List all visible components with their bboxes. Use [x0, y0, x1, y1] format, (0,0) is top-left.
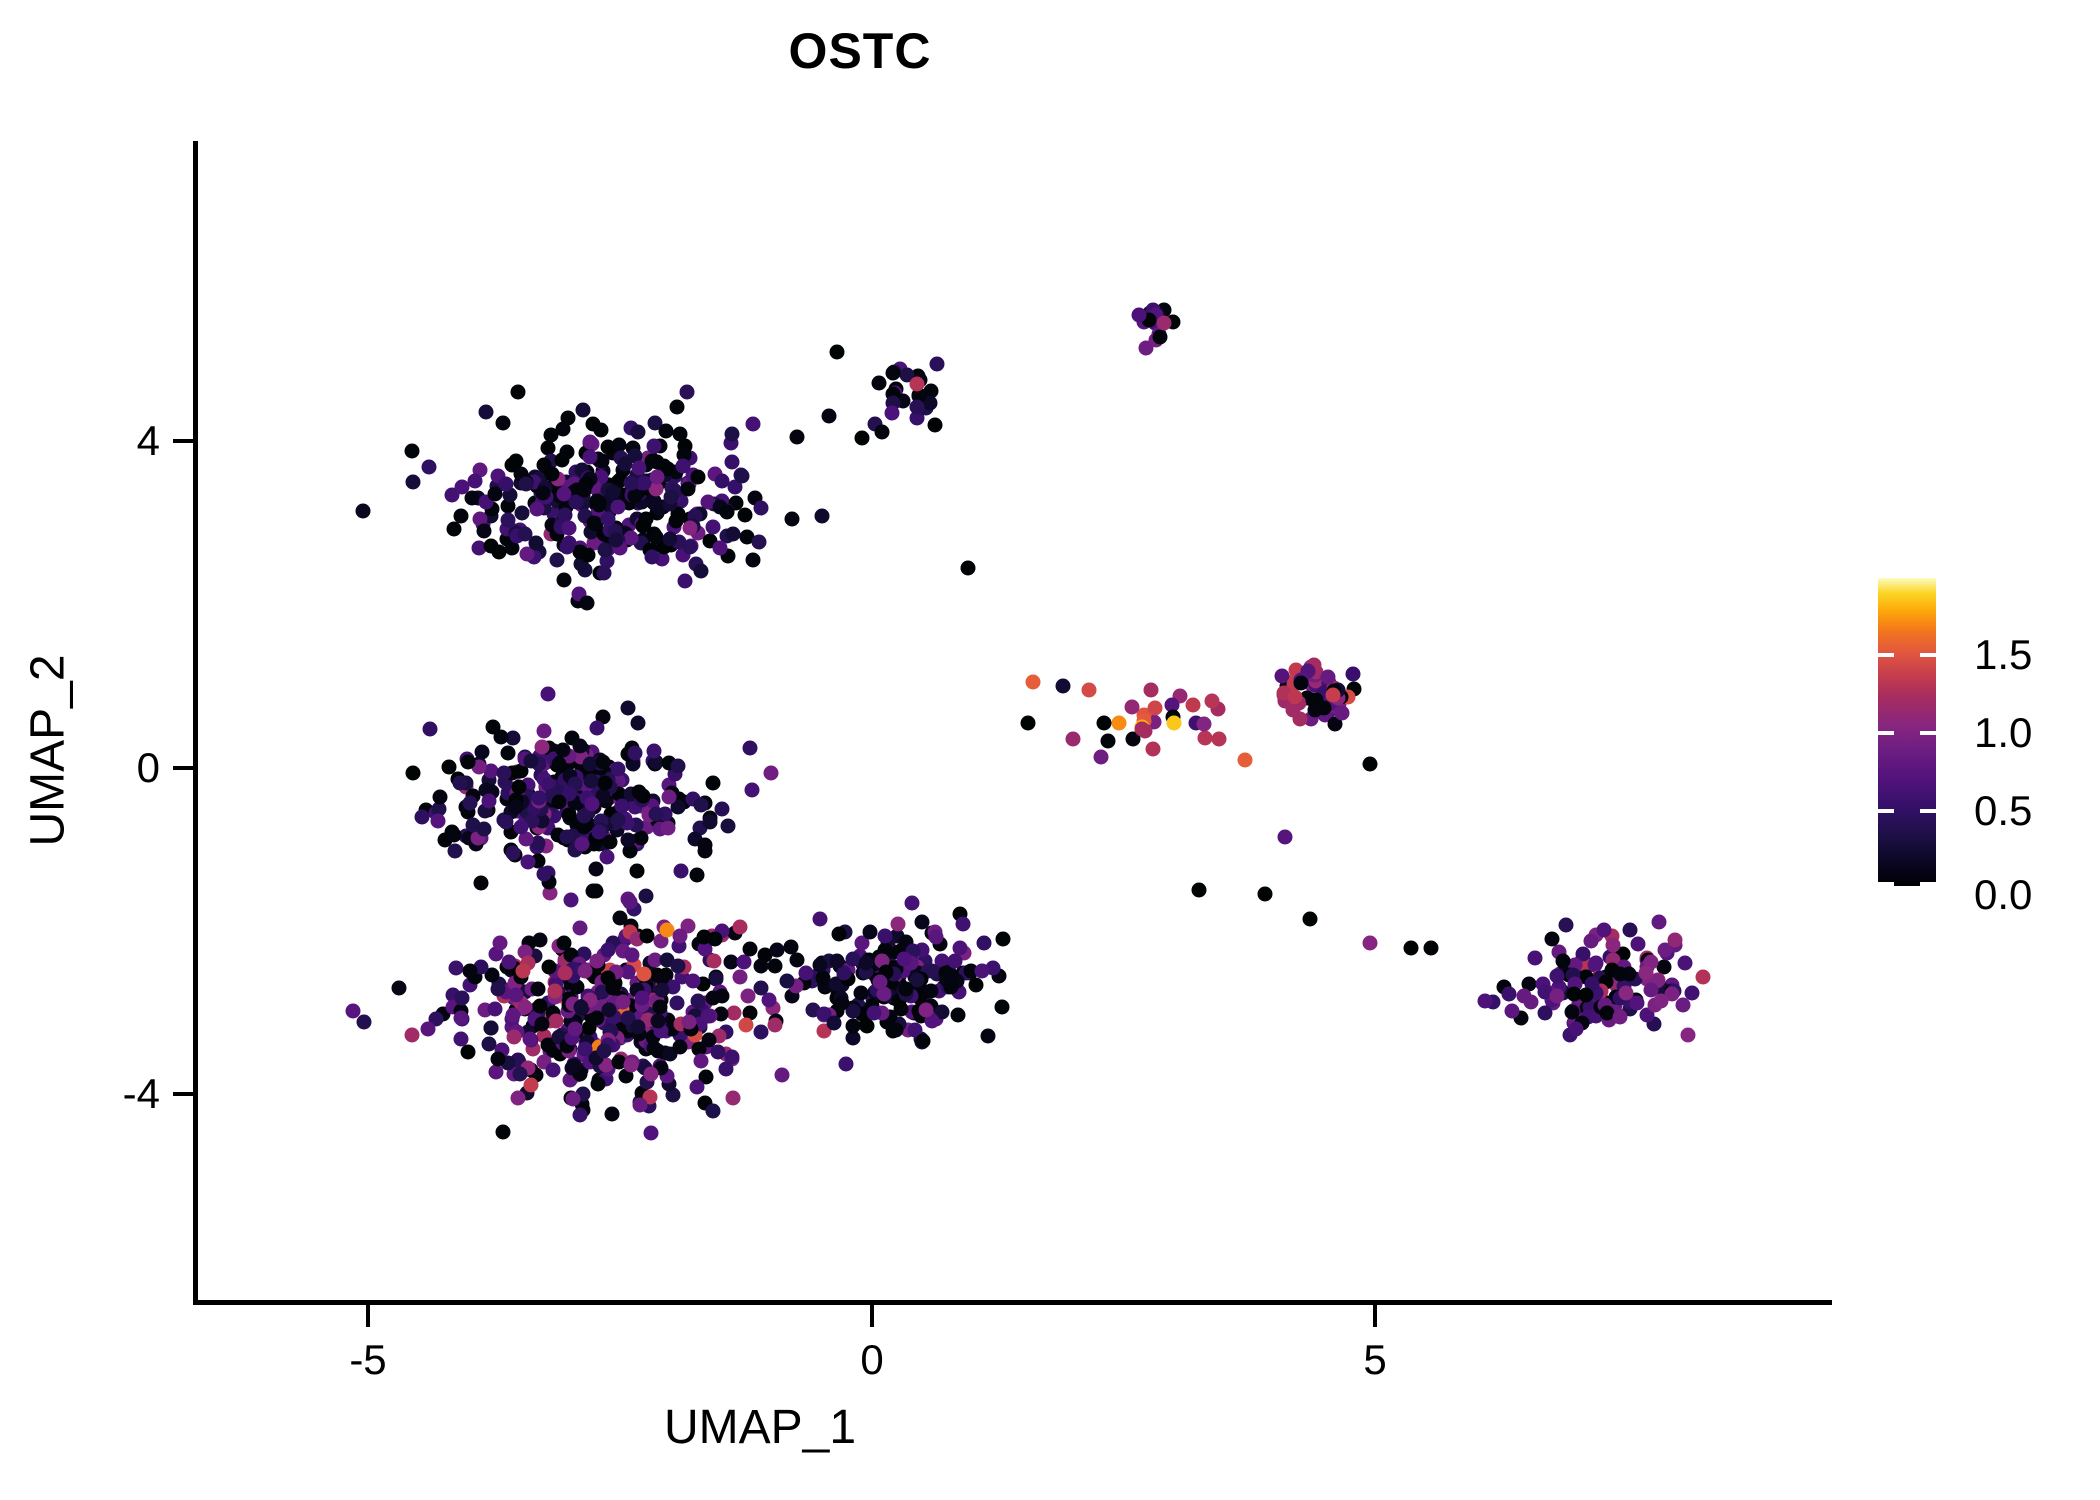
- scatter-point: [682, 521, 697, 536]
- scatter-point: [1622, 923, 1637, 938]
- scatter-point: [744, 782, 759, 797]
- scatter-point: [1363, 756, 1378, 771]
- scatter-point: [421, 1022, 436, 1037]
- scatter-point: [462, 796, 477, 811]
- scatter-point: [496, 415, 511, 430]
- scatter-point: [405, 1027, 420, 1042]
- scatter-point: [1026, 675, 1041, 690]
- scatter-point: [1565, 1005, 1580, 1020]
- scatter-point: [960, 561, 975, 576]
- scatter-point: [542, 960, 557, 975]
- scatter-point: [534, 740, 549, 755]
- scatter-point: [415, 810, 430, 825]
- scatter-point: [1579, 987, 1594, 1002]
- scatter-point: [492, 935, 507, 950]
- scatter-point: [517, 1000, 532, 1015]
- y-tick-label-minus4: -4: [60, 1070, 160, 1118]
- scatter-point: [489, 1065, 504, 1080]
- scatter-point: [1653, 993, 1668, 1008]
- scatter-point: [672, 928, 687, 943]
- x-tick-label-0: 0: [812, 1336, 932, 1384]
- scatter-point: [1124, 699, 1139, 714]
- scatter-point: [751, 535, 766, 550]
- scatter-point: [405, 444, 420, 459]
- colorbar-label-1-0: 1.0: [1974, 709, 2032, 757]
- scatter-point: [714, 474, 729, 489]
- scatter-point: [422, 721, 437, 736]
- scatter-point: [447, 828, 462, 843]
- scatter-point: [556, 936, 571, 951]
- scatter-point: [854, 430, 869, 445]
- scatter-point: [1294, 676, 1309, 691]
- scatter-point: [1144, 683, 1159, 698]
- scatter-point: [829, 344, 844, 359]
- scatter-point: [764, 765, 779, 780]
- scatter-point: [910, 400, 925, 415]
- scatter-point: [582, 434, 597, 449]
- scatter-point: [1021, 716, 1036, 731]
- scatter-point: [693, 1054, 708, 1069]
- scatter-point: [789, 952, 804, 967]
- scatter-point: [523, 1031, 538, 1046]
- scatter-point: [1667, 932, 1682, 947]
- scatter-point: [631, 785, 646, 800]
- scatter-point: [421, 460, 436, 475]
- scatter-point: [573, 1108, 588, 1123]
- scatter-point: [517, 526, 532, 541]
- scatter-point: [479, 405, 494, 420]
- y-tick-mark-0: [173, 766, 195, 770]
- scatter-point: [647, 439, 662, 454]
- scatter-point: [1185, 698, 1200, 713]
- scatter-point: [515, 963, 530, 978]
- scatter-point: [1237, 752, 1252, 767]
- scatter-point: [746, 416, 761, 431]
- colorbar-tick-left-3: [1878, 809, 1894, 813]
- scatter-point: [535, 1016, 550, 1031]
- scatter-point: [355, 504, 370, 519]
- scatter-point: [510, 1091, 525, 1106]
- scatter-point: [715, 989, 730, 1004]
- scatter-point: [1695, 970, 1710, 985]
- scatter-point: [738, 507, 753, 522]
- scatter-point: [506, 845, 521, 860]
- scatter-point: [1100, 733, 1115, 748]
- scatter-point: [556, 743, 571, 758]
- scatter-point: [1403, 940, 1418, 955]
- scatter-point: [577, 1042, 592, 1057]
- scatter-point: [585, 796, 600, 811]
- scatter-point: [560, 444, 575, 459]
- scatter-point: [623, 895, 638, 910]
- scatter-point: [839, 1056, 854, 1071]
- scatter-point: [919, 1003, 934, 1018]
- scatter-point: [815, 509, 830, 524]
- scatter-point: [605, 981, 620, 996]
- scatter-point: [630, 1020, 645, 1035]
- scatter-points-layer: [195, 141, 1832, 1301]
- scatter-point: [592, 824, 607, 839]
- scatter-point: [537, 723, 552, 738]
- scatter-point: [733, 969, 748, 984]
- scatter-point: [1423, 940, 1438, 955]
- scatter-point: [452, 776, 467, 791]
- scatter-point: [615, 798, 630, 813]
- scatter-point: [595, 754, 610, 769]
- scatter-point: [724, 1049, 739, 1064]
- scatter-point: [785, 512, 800, 527]
- scatter-point: [1212, 732, 1227, 747]
- scatter-point: [560, 540, 575, 555]
- scatter-point: [821, 409, 836, 424]
- scatter-point: [1205, 694, 1220, 709]
- scatter-point: [530, 981, 545, 996]
- scatter-point: [827, 1016, 842, 1031]
- colorbar-tick-right-2: [1920, 731, 1936, 735]
- scatter-point: [565, 1092, 580, 1107]
- scatter-point: [649, 806, 664, 821]
- x-tick-mark-5: [1373, 1305, 1377, 1327]
- scatter-point: [994, 999, 1009, 1014]
- scatter-point: [1678, 955, 1693, 970]
- colorbar-tick-right-3: [1920, 809, 1936, 813]
- scatter-point: [1321, 670, 1336, 685]
- scatter-point: [779, 973, 794, 988]
- scatter-point: [673, 863, 688, 878]
- scatter-point: [630, 864, 645, 879]
- scatter-point: [447, 844, 462, 859]
- scatter-point: [698, 837, 713, 852]
- scatter-point: [678, 574, 693, 589]
- scatter-point: [441, 759, 456, 774]
- scatter-point: [724, 427, 739, 442]
- scatter-point: [535, 485, 550, 500]
- scatter-point: [633, 1097, 648, 1112]
- scatter-point: [631, 425, 646, 440]
- scatter-point: [1066, 732, 1081, 747]
- scatter-point: [546, 1062, 561, 1077]
- scatter-point: [1111, 716, 1126, 731]
- scatter-point: [673, 1040, 688, 1055]
- scatter-point: [501, 954, 516, 969]
- scatter-point: [485, 720, 500, 735]
- scatter-point: [897, 952, 912, 967]
- scatter-point: [346, 1003, 361, 1018]
- scatter-point: [575, 402, 590, 417]
- scatter-point: [643, 1067, 658, 1082]
- scatter-point: [490, 1052, 505, 1067]
- scatter-point: [1555, 953, 1570, 968]
- scatter-point: [798, 965, 813, 980]
- x-axis-title: UMAP_1: [0, 1400, 2100, 1455]
- scatter-point: [572, 920, 587, 935]
- scatter-point: [1477, 993, 1492, 1008]
- scatter-point: [463, 964, 478, 979]
- scatter-point: [686, 974, 701, 989]
- scatter-point: [498, 814, 513, 829]
- scatter-point: [1684, 985, 1699, 1000]
- scatter-point: [617, 457, 632, 472]
- scatter-point: [562, 521, 577, 536]
- scatter-point: [606, 485, 621, 500]
- scatter-point: [1094, 749, 1109, 764]
- scatter-point: [813, 957, 828, 972]
- scatter-point: [715, 802, 730, 817]
- scatter-point: [753, 1025, 768, 1040]
- scatter-point: [706, 1103, 721, 1118]
- scatter-point: [490, 981, 505, 996]
- scatter-point: [1197, 717, 1212, 732]
- scatter-point: [453, 1010, 468, 1025]
- scatter-point: [1588, 955, 1603, 970]
- scatter-point: [609, 533, 624, 548]
- scatter-point: [591, 1076, 606, 1091]
- scatter-point: [473, 876, 488, 891]
- scatter-point: [672, 426, 687, 441]
- scatter-point: [574, 1000, 589, 1015]
- scatter-point: [1335, 706, 1350, 721]
- scatter-point: [577, 963, 592, 978]
- scatter-point: [739, 1017, 754, 1032]
- scatter-point: [691, 994, 706, 1009]
- scatter-point: [1528, 950, 1543, 965]
- scatter-point: [1056, 679, 1071, 694]
- scatter-point: [1652, 915, 1667, 930]
- scatter-point: [651, 1014, 666, 1029]
- scatter-point: [497, 765, 512, 780]
- colorbar-label-1-5: 1.5: [1974, 631, 2032, 679]
- scatter-point: [482, 793, 497, 808]
- scatter-point: [815, 970, 830, 985]
- scatter-point: [1545, 932, 1560, 947]
- scatter-point: [500, 746, 515, 761]
- scatter-point: [1147, 700, 1162, 715]
- scatter-point: [707, 932, 722, 947]
- y-tick-mark-minus4: [173, 1092, 195, 1096]
- scatter-point: [679, 384, 694, 399]
- scatter-point: [661, 790, 676, 805]
- scatter-point: [905, 896, 920, 911]
- scatter-point: [753, 501, 768, 516]
- scatter-point: [669, 400, 684, 415]
- scatter-point: [872, 974, 887, 989]
- scatter-point: [1198, 730, 1213, 745]
- scatter-point: [969, 977, 984, 992]
- scatter-point: [1167, 716, 1182, 731]
- scatter-point: [768, 1017, 783, 1032]
- scatter-point: [676, 459, 691, 474]
- scatter-point: [977, 935, 992, 950]
- scatter-point: [1081, 683, 1096, 698]
- scatter-point: [719, 505, 734, 520]
- scatter-point: [648, 529, 663, 544]
- scatter-point: [566, 1059, 581, 1074]
- scatter-point: [598, 776, 613, 791]
- scatter-point: [1558, 918, 1573, 933]
- scatter-point: [624, 475, 639, 490]
- scatter-point: [597, 565, 612, 580]
- scatter-point: [874, 425, 889, 440]
- scatter-point: [995, 932, 1010, 947]
- scatter-point: [726, 1090, 741, 1105]
- colorbar-tick-right-1: [1920, 653, 1936, 657]
- scatter-point: [357, 1015, 372, 1030]
- scatter-point: [544, 466, 559, 481]
- scatter-point: [1549, 989, 1564, 1004]
- scatter-point: [910, 377, 925, 392]
- scatter-point: [1303, 911, 1318, 926]
- scatter-point: [742, 741, 757, 756]
- scatter-point: [576, 482, 591, 497]
- scatter-point: [1605, 938, 1620, 953]
- scatter-point: [669, 996, 684, 1011]
- scatter-point: [551, 756, 566, 771]
- scatter-point: [663, 532, 678, 547]
- colorbar-label-0-5: 0.5: [1974, 787, 2032, 835]
- scatter-point: [601, 1003, 616, 1018]
- scatter-point: [574, 837, 589, 852]
- scatter-point: [524, 1078, 539, 1093]
- scatter-point: [455, 991, 470, 1006]
- scatter-point: [951, 1008, 966, 1023]
- scatter-point: [1613, 967, 1628, 982]
- scatter-point: [1363, 936, 1378, 951]
- scatter-point: [981, 1028, 996, 1043]
- scatter-point: [524, 754, 539, 769]
- scatter-point: [660, 821, 675, 836]
- scatter-point: [947, 954, 962, 969]
- scatter-point: [620, 833, 635, 848]
- scatter-point: [510, 385, 525, 400]
- scatter-point: [1501, 986, 1516, 1001]
- scatter-point: [640, 928, 655, 943]
- scatter-point: [580, 596, 595, 611]
- scatter-point: [1612, 1009, 1627, 1024]
- scatter-point: [501, 512, 516, 527]
- scatter-point: [448, 961, 463, 976]
- scatter-point: [706, 954, 721, 969]
- scatter-point: [1308, 692, 1323, 707]
- scatter-point: [705, 520, 720, 535]
- scatter-point: [509, 799, 524, 814]
- y-axis-title: UMAP_2: [21, 471, 76, 1031]
- scatter-point: [770, 942, 785, 957]
- scatter-point: [860, 1019, 875, 1034]
- scatter-point: [649, 470, 664, 485]
- scatter-point: [889, 1022, 904, 1037]
- colorbar-tick-right-4: [1920, 882, 1936, 886]
- scatter-point: [701, 1033, 716, 1048]
- scatter-point: [549, 1013, 564, 1028]
- scatter-point: [581, 547, 596, 562]
- y-tick-label-4: 4: [60, 417, 160, 465]
- scatter-point: [529, 502, 544, 517]
- scatter-point: [743, 941, 758, 956]
- scatter-point: [700, 1009, 715, 1024]
- scatter-point: [732, 919, 747, 934]
- scatter-point: [877, 929, 892, 944]
- scatter-point: [572, 739, 587, 754]
- scatter-point: [956, 917, 971, 932]
- scatter-point: [670, 959, 685, 974]
- scatter-point: [1288, 690, 1303, 705]
- scatter-point: [754, 958, 769, 973]
- scatter-point: [550, 553, 565, 568]
- scatter-point: [476, 822, 491, 837]
- scatter-point: [557, 965, 572, 980]
- scatter-point: [1257, 887, 1272, 902]
- scatter-point: [599, 850, 614, 865]
- colorbar-tick-left-1: [1878, 653, 1894, 657]
- scatter-point: [652, 1000, 667, 1015]
- scatter-point: [515, 506, 530, 521]
- scatter-point: [974, 963, 989, 978]
- scatter-point: [1146, 742, 1161, 757]
- scatter-point: [1153, 330, 1168, 345]
- scatter-point: [930, 357, 945, 372]
- scatter-point: [604, 1107, 619, 1122]
- scatter-point: [846, 1019, 861, 1034]
- x-tick-mark-minus5: [366, 1305, 370, 1327]
- scatter-point: [601, 439, 616, 454]
- scatter-point: [631, 716, 646, 731]
- scatter-point: [1192, 883, 1207, 898]
- scatter-point: [505, 457, 520, 472]
- x-tick-label-minus5: -5: [308, 1336, 428, 1384]
- scatter-point: [638, 512, 653, 527]
- scatter-point: [702, 814, 717, 829]
- scatter-point: [613, 910, 628, 925]
- scatter-point: [916, 1034, 931, 1049]
- scatter-point: [1538, 1006, 1553, 1021]
- scatter-point: [812, 911, 827, 926]
- scatter-point: [585, 883, 600, 898]
- scatter-point: [681, 1015, 696, 1030]
- scatter-point: [591, 497, 606, 512]
- scatter-point: [584, 773, 599, 788]
- scatter-point: [1096, 716, 1111, 731]
- scatter-point: [483, 1020, 498, 1035]
- scatter-point: [663, 490, 678, 505]
- scatter-point: [644, 550, 659, 565]
- scatter-point: [898, 982, 913, 997]
- scatter-point: [745, 552, 760, 567]
- scatter-point: [1346, 666, 1361, 681]
- scatter-point: [712, 540, 727, 555]
- scatter-point: [557, 573, 572, 588]
- x-tick-mark-0: [870, 1305, 874, 1327]
- scatter-point: [637, 966, 652, 981]
- scatter-point: [600, 942, 615, 957]
- scatter-point: [768, 959, 783, 974]
- scatter-point: [1569, 1021, 1584, 1036]
- scatter-point: [492, 545, 507, 560]
- scatter-point: [654, 982, 669, 997]
- colorbar-label-0-0: 0.0: [1974, 871, 2032, 919]
- scatter-point: [834, 995, 849, 1010]
- scatter-point: [601, 511, 616, 526]
- scatter-point: [1523, 994, 1538, 1009]
- scatter-point: [633, 830, 648, 845]
- scatter-point: [391, 980, 406, 995]
- scatter-point: [658, 424, 673, 439]
- colorbar-tick-left-2: [1878, 731, 1894, 735]
- scatter-point: [647, 744, 662, 759]
- scatter-point: [432, 790, 447, 805]
- scatter-point: [623, 1058, 638, 1073]
- scatter-point: [495, 1124, 510, 1139]
- scatter-point: [514, 820, 529, 835]
